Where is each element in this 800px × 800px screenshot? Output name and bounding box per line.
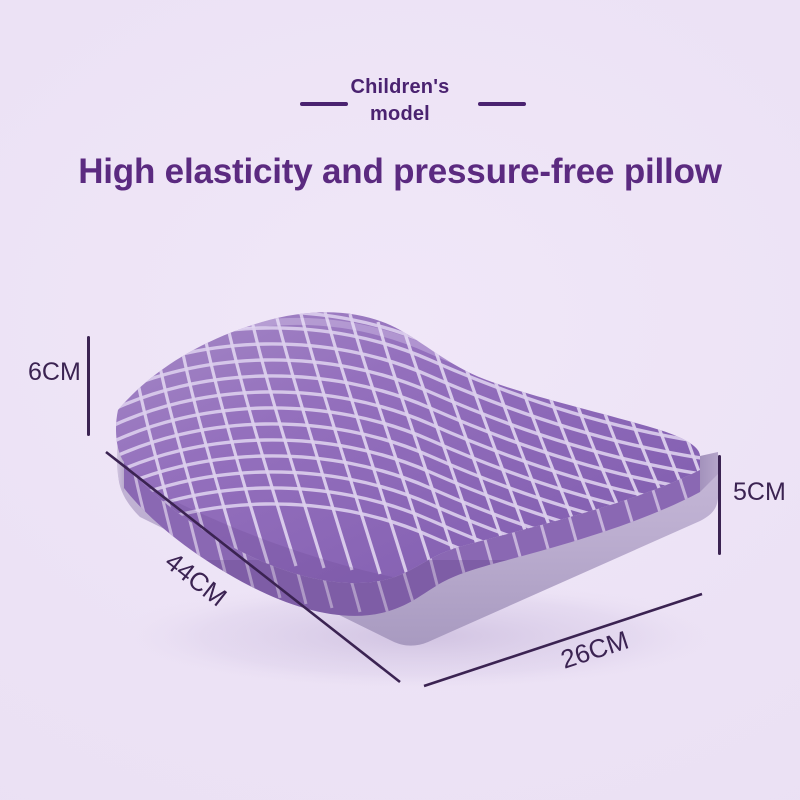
dimension-line-5cm (718, 455, 721, 555)
dimension-line-6cm (87, 336, 90, 436)
pillow-illustration (0, 0, 800, 800)
product-image-canvas: Children's model High elasticity and pre… (0, 0, 800, 800)
dimension-label-6cm: 6CM (28, 358, 81, 387)
dimension-label-5cm: 5CM (733, 478, 786, 507)
